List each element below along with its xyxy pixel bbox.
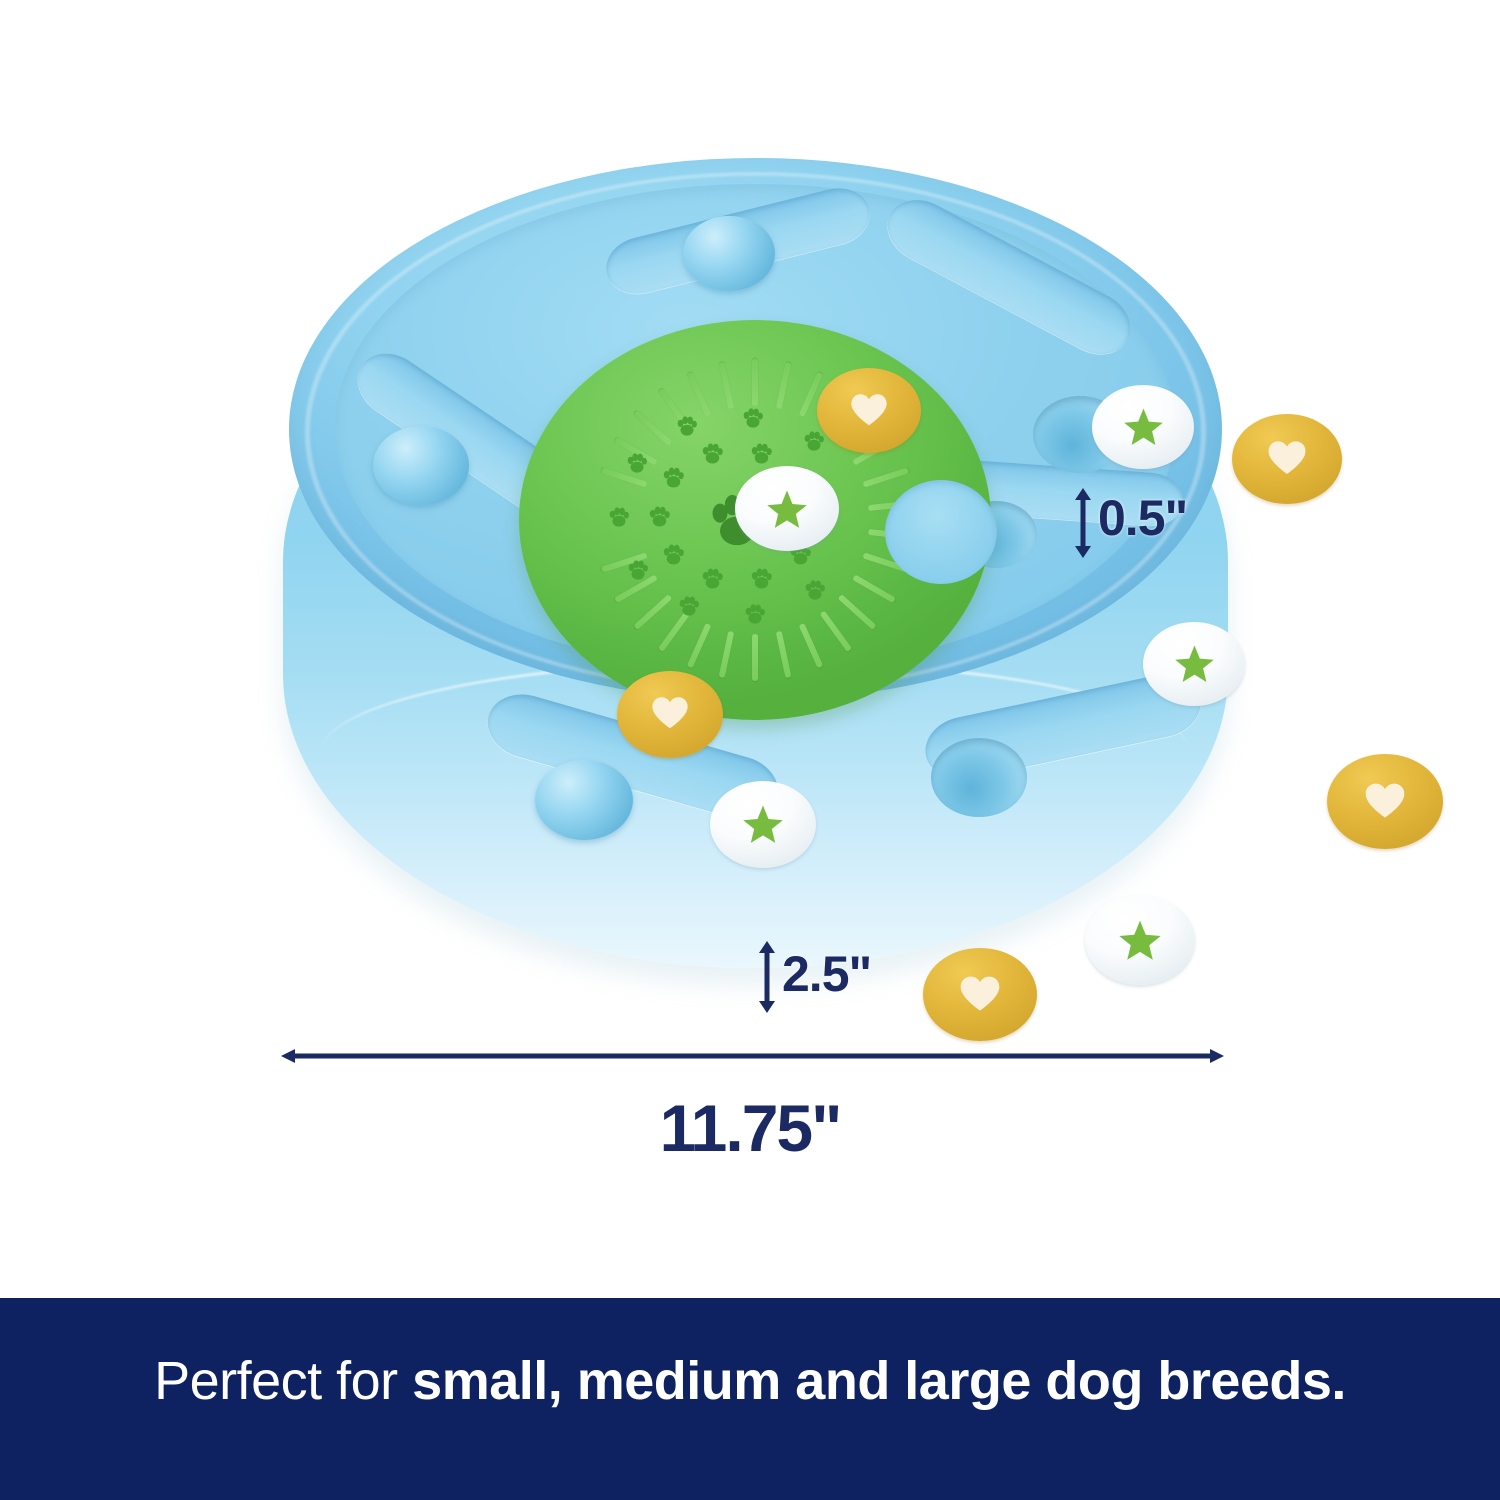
bottom-banner: Perfect for small, medium and large dog … <box>0 1298 1500 1500</box>
small-paw-print-icon <box>802 577 828 608</box>
dimension-thickness-label: 0.5" <box>1098 489 1187 547</box>
puck-cap <box>923 948 1037 1041</box>
dimension-width-label: 11.75" <box>0 1090 1500 1166</box>
puck-cap <box>617 671 723 758</box>
puzzle-puck-star[interactable] <box>1085 895 1195 985</box>
puck-cap <box>735 466 839 551</box>
puzzle-puck-heart[interactable] <box>817 368 921 453</box>
small-paw-print-icon <box>606 504 632 535</box>
banner-text-emphasis: small, medium and large dog breeds. <box>412 1351 1346 1411</box>
star-icon <box>766 488 808 530</box>
small-paw-print-icon <box>740 405 766 436</box>
disc-ridge <box>752 359 758 406</box>
dome-bump <box>373 426 469 505</box>
small-paw-print-icon <box>676 593 702 624</box>
disc-notch-cutout <box>885 480 997 584</box>
small-paw-print-icon <box>660 541 687 573</box>
puzzle-puck-star[interactable] <box>1143 622 1245 706</box>
puzzle-puck-heart[interactable] <box>1327 754 1443 849</box>
double-arrow-horizontal-icon <box>280 1042 1225 1070</box>
puzzle-puck-star[interactable] <box>735 466 839 551</box>
dimension-height-label: 2.5" <box>782 945 871 1003</box>
heart-icon <box>848 390 890 432</box>
puck-cap <box>817 368 921 453</box>
small-paw-print-icon <box>646 503 673 535</box>
puck-cap <box>1085 895 1195 985</box>
puzzle-puck-heart[interactable] <box>923 948 1037 1041</box>
small-paw-print-icon <box>674 413 700 444</box>
disc-ridge <box>752 634 758 681</box>
puzzle-puck-heart[interactable] <box>617 671 723 758</box>
puck-cap <box>1232 414 1342 504</box>
puzzle-puck-star[interactable] <box>710 781 816 868</box>
star-icon <box>1123 406 1164 447</box>
small-paw-print-icon <box>801 428 827 459</box>
small-paw-print-icon <box>625 557 651 588</box>
banner-text-lead: Perfect for <box>154 1351 412 1411</box>
heart-icon <box>1362 779 1408 825</box>
small-paw-print-icon <box>699 565 726 597</box>
product-image-area: 0.5" 2.5" 11.75" <box>0 0 1500 1298</box>
heart-icon <box>957 972 1003 1018</box>
star-icon <box>742 803 784 845</box>
small-paw-print-icon <box>660 464 687 496</box>
puzzle-puck-heart[interactable] <box>1232 414 1342 504</box>
puck-cap <box>1092 385 1194 469</box>
puck-cap <box>1327 754 1443 849</box>
dome-bump <box>931 738 1027 817</box>
small-paw-print-icon <box>624 450 650 481</box>
banner-text: Perfect for small, medium and large dog … <box>154 1350 1346 1412</box>
small-paw-print-icon <box>699 440 726 472</box>
dome-bump <box>535 760 633 840</box>
double-arrow-vertical-icon <box>752 940 782 1014</box>
puzzle-puck-star[interactable] <box>1092 385 1194 469</box>
small-paw-print-icon <box>742 601 768 632</box>
double-arrow-vertical-icon <box>1068 487 1098 559</box>
puck-cap <box>1143 622 1245 706</box>
heart-icon <box>1265 437 1309 481</box>
star-icon <box>1174 643 1215 684</box>
dome-bump <box>683 216 775 291</box>
dog-puzzle-toy <box>283 158 1228 1013</box>
star-icon <box>1118 918 1162 962</box>
small-paw-print-icon <box>748 565 775 597</box>
heart-icon <box>649 693 691 735</box>
puck-cap <box>710 781 816 868</box>
